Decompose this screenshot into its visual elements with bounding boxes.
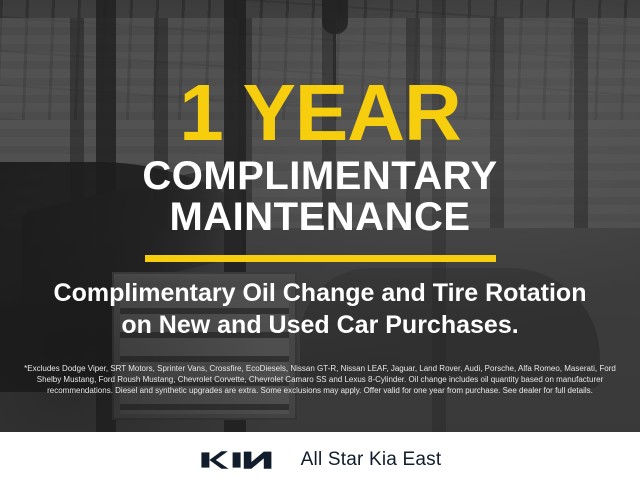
headline-complimentary: COMPLIMENTARY xyxy=(142,156,497,196)
headline-year: 1 YEAR xyxy=(179,76,461,150)
kia-logo xyxy=(199,449,279,471)
subheadline-line-2: on New and Used Car Purchases. xyxy=(20,309,620,341)
disclaimer-fine-print: *Excludes Dodge Viper, SRT Motors, Sprin… xyxy=(13,363,627,397)
subheadline-line-1: Complimentary Oil Change and Tire Rotati… xyxy=(20,277,620,309)
footer-bar: All Star Kia East xyxy=(0,432,640,488)
hero-section: 1 YEAR COMPLIMENTARY MAINTENANCE Complim… xyxy=(0,0,640,432)
hero-content: 1 YEAR COMPLIMENTARY MAINTENANCE Complim… xyxy=(0,0,640,432)
dealer-name: All Star Kia East xyxy=(301,449,442,471)
promotional-ad-banner: 1 YEAR COMPLIMENTARY MAINTENANCE Complim… xyxy=(0,0,640,488)
headline-maintenance: MAINTENANCE xyxy=(169,197,470,237)
subheadline: Complimentary Oil Change and Tire Rotati… xyxy=(20,277,620,341)
yellow-divider-rule xyxy=(145,255,496,262)
